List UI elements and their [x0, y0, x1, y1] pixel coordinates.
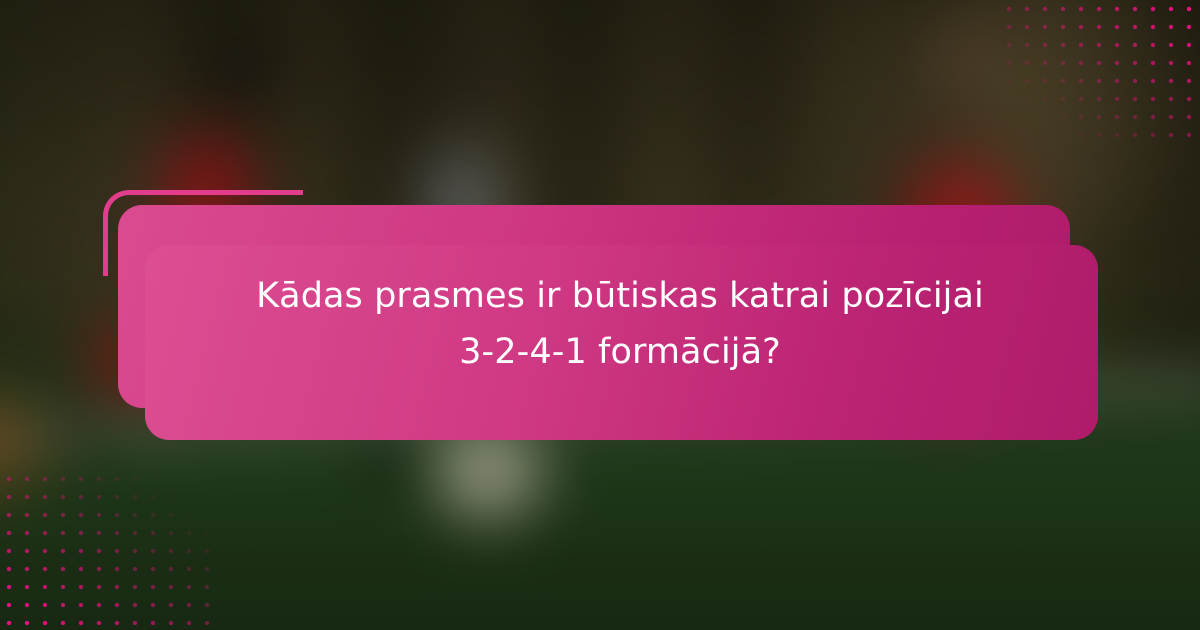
social-card-canvas: Kādas prasmes ir būtiskas katrai pozīcij… [0, 0, 1200, 630]
dot-pattern-top-right [1000, 0, 1200, 140]
dot-pattern-bottom-left [0, 470, 210, 630]
headline-text: Kādas prasmes ir būtiskas katrai pozīcij… [160, 268, 1080, 380]
